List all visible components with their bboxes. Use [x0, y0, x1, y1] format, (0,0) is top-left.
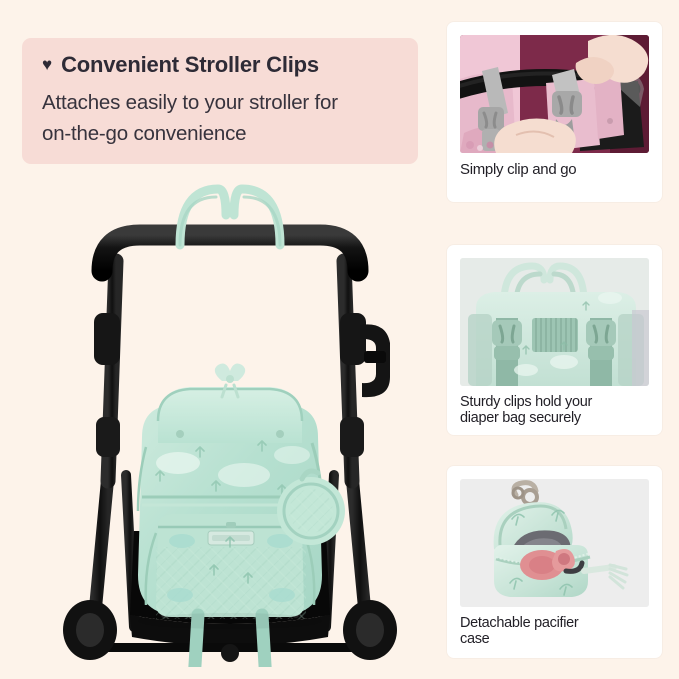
banner-title-row: ♥ Convenient Stroller Clips: [42, 52, 398, 78]
feature-card-sturdy-clips[interactable]: Sturdy clips hold your diaper bag secure…: [447, 245, 662, 435]
card-photo-sturdy-clips: [460, 258, 649, 386]
card-caption-line-2: diaper bag securely: [460, 411, 649, 427]
feature-card-simply-clip[interactable]: Simply clip and go: [447, 22, 662, 202]
card-photo-simply-clip: [460, 35, 649, 153]
banner-body-line-2: on-the-go convenience: [42, 118, 398, 149]
card-caption-line-2: case: [460, 632, 649, 648]
card-caption-line-1: Detachable pacifier: [460, 616, 649, 632]
card-caption-line-1: Sturdy clips hold your: [460, 395, 649, 411]
card-caption-sturdy-clips: Sturdy clips hold your diaper bag secure…: [460, 395, 649, 426]
heart-icon: ♥: [42, 56, 52, 73]
card-caption-simply-clip: Simply clip and go: [460, 162, 649, 178]
feature-card-pacifier-case[interactable]: Detachable pacifier case: [447, 466, 662, 658]
banner-title: Convenient Stroller Clips: [61, 52, 319, 78]
banner-body: Attaches easily to your stroller for on-…: [42, 87, 398, 149]
infographic-stage: ♥ Convenient Stroller Clips Attaches eas…: [0, 0, 679, 679]
feature-banner: ♥ Convenient Stroller Clips Attaches eas…: [22, 38, 418, 164]
card-photo-pacifier-case: [460, 479, 649, 607]
banner-body-line-1: Attaches easily to your stroller for: [42, 87, 398, 118]
card-caption-pacifier-case: Detachable pacifier case: [460, 616, 649, 647]
hero-product-photo: [30, 175, 430, 667]
